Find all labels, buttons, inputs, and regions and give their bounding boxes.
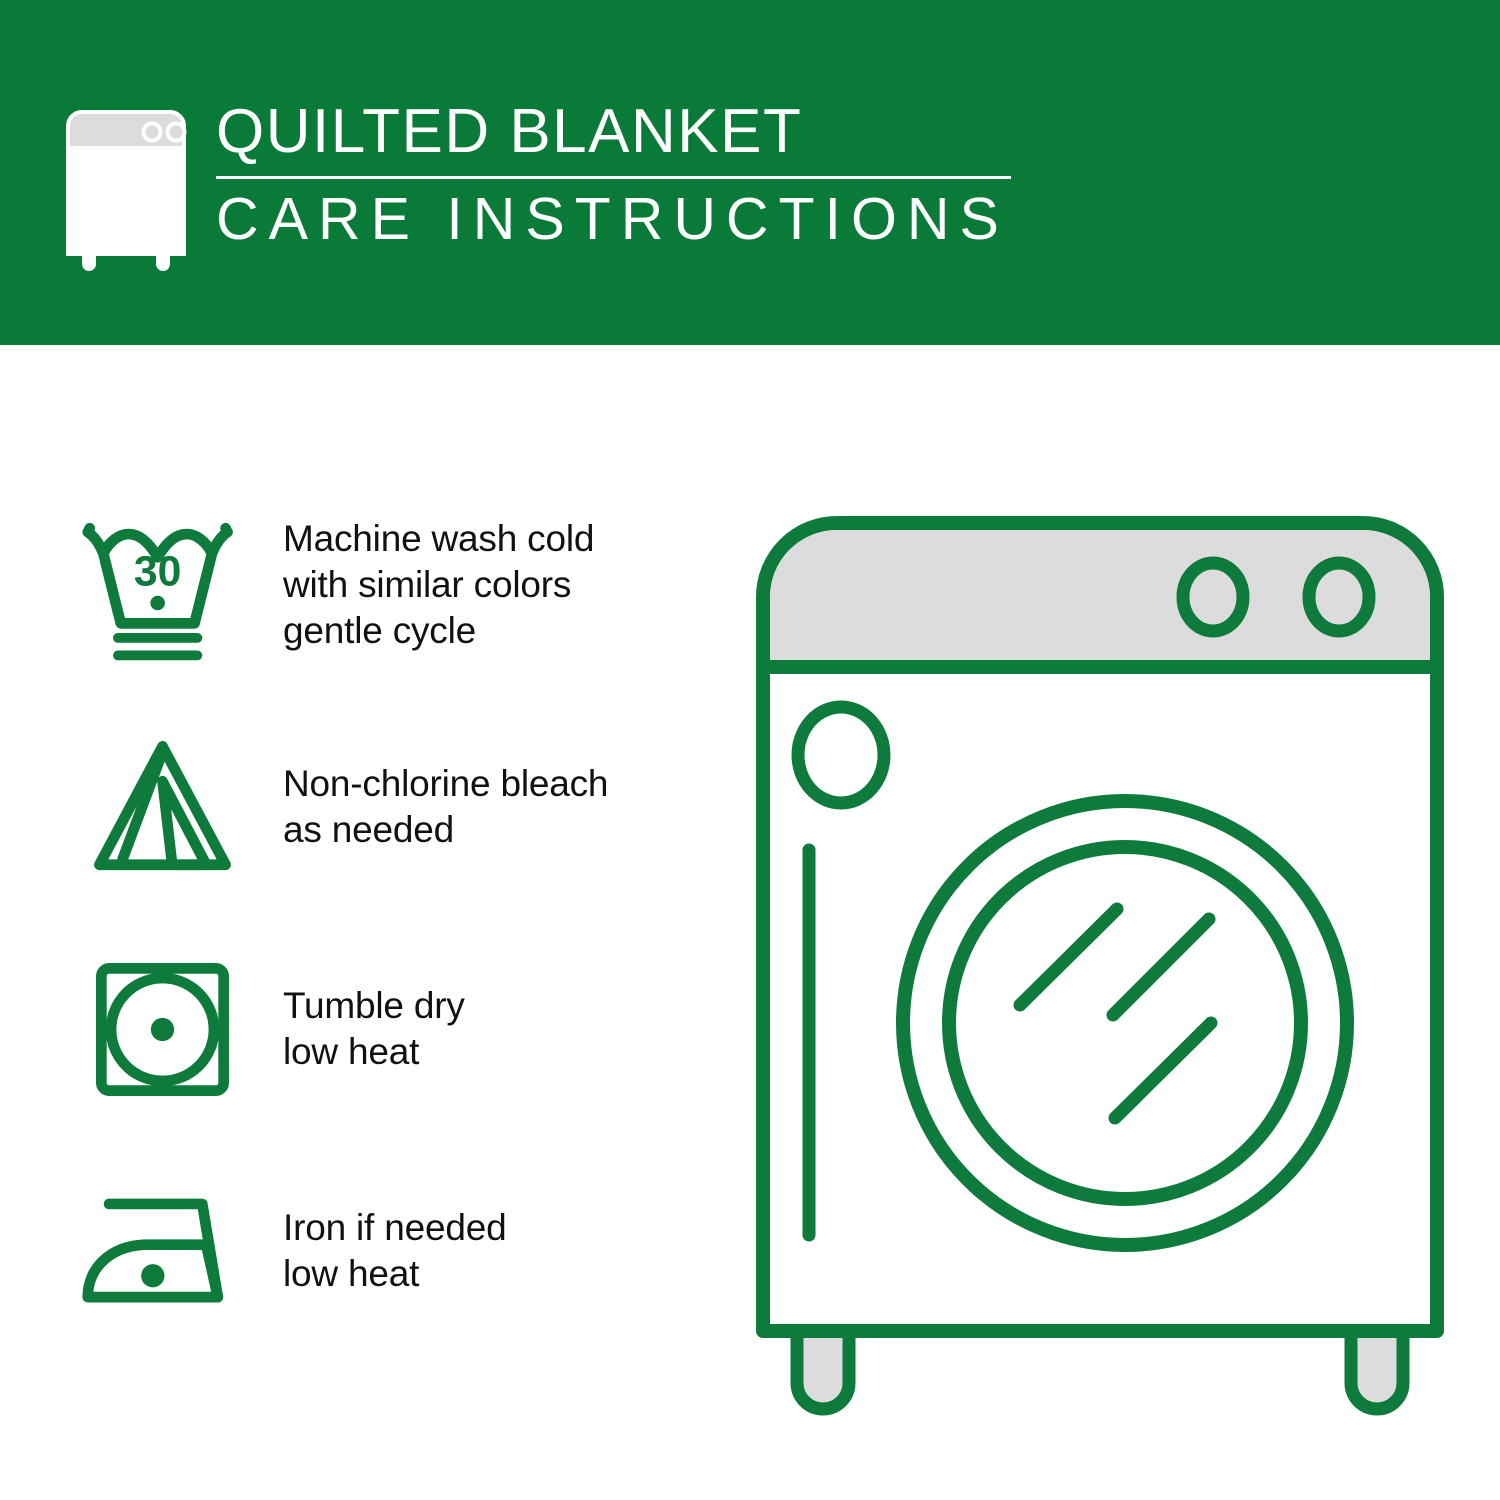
wash-tub-30-icon: 30	[70, 503, 255, 668]
list-item-label: Iron if needed low heat	[283, 1205, 710, 1297]
content-area: 30 Machine wash cold with similar colors…	[0, 345, 1500, 1500]
list-item-label: Tumble dry low heat	[283, 983, 710, 1075]
washing-machine-icon	[60, 104, 192, 272]
non-chlorine-bleach-triangle-icon	[70, 725, 255, 890]
header-content: QUILTED BLANKET CARE INSTRUCTIONS	[60, 98, 1060, 278]
header-banner: QUILTED BLANKET CARE INSTRUCTIONS	[0, 0, 1500, 345]
list-item-label: Machine wash cold with similar colors ge…	[283, 516, 710, 654]
header-text-block: QUILTED BLANKET CARE INSTRUCTIONS	[216, 98, 1060, 251]
page-title: QUILTED BLANKET	[216, 98, 1060, 166]
washer-knob-right	[1309, 563, 1369, 631]
iron-low-heat-icon	[70, 1169, 255, 1334]
tumble-dry-low-icon	[70, 947, 255, 1112]
header-divider	[216, 176, 1011, 179]
list-item: Non-chlorine bleach as needed	[70, 717, 710, 897]
list-item-label: Non-chlorine bleach as needed	[283, 761, 710, 853]
care-instruction-list: 30 Machine wash cold with similar colors…	[70, 495, 710, 1341]
wash-temperature-value: 30	[134, 547, 181, 595]
list-item: 30 Machine wash cold with similar colors…	[70, 495, 710, 675]
list-item: Iron if needed low heat	[70, 1161, 710, 1341]
page-subtitle: CARE INSTRUCTIONS	[216, 187, 1060, 251]
washer-knob-left	[1183, 563, 1243, 631]
washing-machine-illustration	[745, 505, 1455, 1425]
list-item: Tumble dry low heat	[70, 939, 710, 1119]
